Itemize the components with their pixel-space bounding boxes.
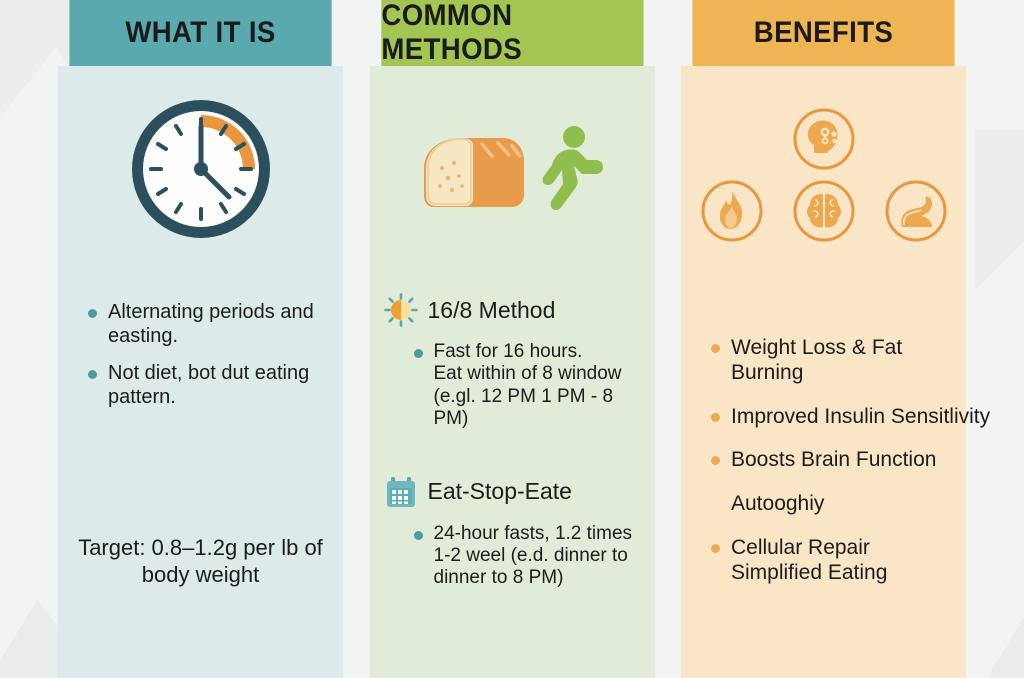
what-it-is-bullet-list: Alternating periods and easting. Not die… xyxy=(58,301,343,409)
benefits-bullet-list: Weight Loss & Fat Burning Improved Insul… xyxy=(681,332,966,585)
column-benefits: BENEFITS xyxy=(681,0,966,678)
list-item: Weight Loss & Fat Burning xyxy=(709,336,944,386)
column-body-benefits: Weight Loss & Fat Burning Improved Insul… xyxy=(681,66,966,678)
column-title-what-it-is: WHAT IT IS xyxy=(69,0,331,66)
bicep-icon xyxy=(884,179,948,243)
bread-icon xyxy=(416,128,528,214)
column-what-it-is: WHAT IT IS xyxy=(58,0,343,678)
head-gears-icon xyxy=(792,107,856,171)
list-item: Not diet, bot dut eating pattern. xyxy=(86,362,321,409)
method-bullet-list: Fast for 16 hours. Eat within of 8 windo… xyxy=(384,341,645,431)
method-bullet-list: 24-hour fasts, 1.2 times 1-2 weel (e.d. … xyxy=(384,523,645,590)
list-item: 24-hour fasts, 1.2 times 1-2 weel (e.d. … xyxy=(412,523,641,590)
list-item: Autooghiy xyxy=(709,492,944,517)
column-title-benefits: BENEFITS xyxy=(692,0,954,66)
column-common-methods: COMMON METHODS xyxy=(370,0,655,678)
list-item: Cellular Repair Simplified Eating xyxy=(709,536,944,586)
runner-icon xyxy=(522,124,608,216)
list-item: Alternating periods and easting. xyxy=(86,301,321,348)
column-body-what-it-is: Alternating periods and easting. Not die… xyxy=(58,66,343,678)
method-block-eat-stop-eat: Eat-Stop-Eate 24-hour fasts, 1.2 times 1… xyxy=(370,475,655,590)
column-body-common-methods: 16/8 Method Fast for 16 hours. Eat withi… xyxy=(370,66,655,678)
column-title-common-methods: COMMON METHODS xyxy=(381,0,643,66)
calendar-icon xyxy=(384,475,418,509)
method-title: Eat-Stop-Eate xyxy=(428,478,572,505)
infographic-board: WHAT IT IS xyxy=(0,0,1024,678)
hero-benefit-badges-area xyxy=(681,66,966,276)
clock-icon xyxy=(125,93,277,245)
brain-icon xyxy=(792,179,856,243)
list-item: Fast for 16 hours. Eat within of 8 windo… xyxy=(412,341,641,431)
hero-bread-runner-area xyxy=(370,66,655,271)
flame-icon xyxy=(700,179,764,243)
method-title: 16/8 Method xyxy=(428,297,556,324)
list-item: Boosts Brain Function xyxy=(709,448,944,473)
sun-icon xyxy=(384,293,418,327)
method-block-16-8: 16/8 Method Fast for 16 hours. Eat withi… xyxy=(370,293,655,431)
target-footer-text: Target: 0.8–1.2g per lb of body weight xyxy=(58,535,343,589)
hero-clock-area xyxy=(58,66,343,271)
list-item: Improved Insulin Sensitlivity xyxy=(709,405,944,430)
